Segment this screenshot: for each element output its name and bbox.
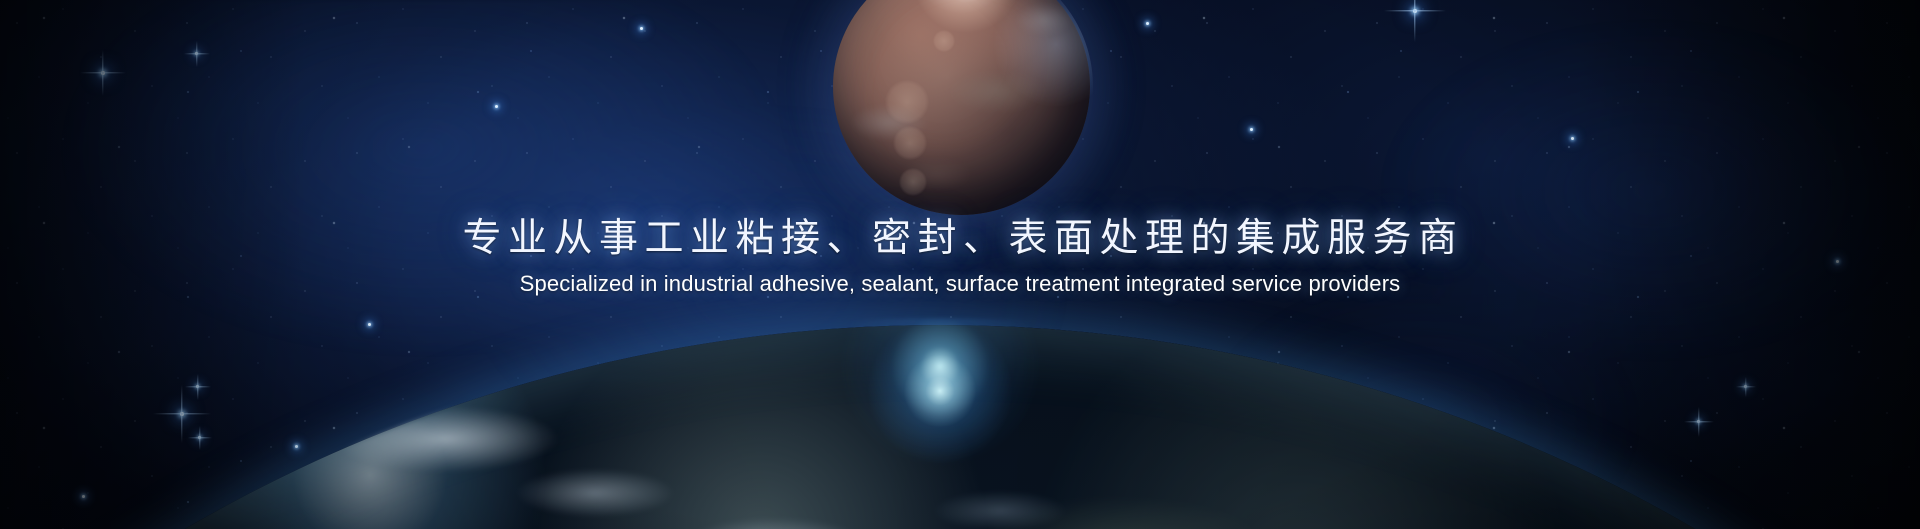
star-12 (368, 323, 371, 326)
star-18 (1146, 22, 1149, 25)
hero-subtitle-english: Specialized in industrial adhesive, seal… (0, 270, 1920, 298)
star-2 (195, 52, 198, 55)
star-4 (196, 385, 199, 388)
star-7 (1697, 420, 1700, 423)
hero-headline-chinese: 专业从事工业粘接、密封、表面处理的集成服务商 (0, 214, 1920, 264)
star-3 (180, 412, 184, 416)
earth-atmosphere-rim (0, 318, 1920, 529)
lens-bokeh-1 (885, 80, 929, 124)
lens-bokeh-4 (933, 30, 955, 52)
star-14 (82, 495, 85, 498)
star-6 (1413, 9, 1417, 13)
star-10 (495, 105, 498, 108)
star-15 (1250, 128, 1253, 131)
star-1 (101, 71, 105, 75)
lens-bokeh-2 (893, 126, 927, 160)
star-16 (1571, 137, 1574, 140)
earth-horizon (0, 325, 1920, 529)
star-9 (1744, 385, 1747, 388)
lens-bokeh-3 (899, 168, 927, 196)
star-5 (198, 436, 201, 439)
hero-copy-block: 专业从事工业粘接、密封、表面处理的集成服务商 Specialized in in… (0, 214, 1920, 298)
hero-banner: 专业从事工业粘接、密封、表面处理的集成服务商 Specialized in in… (0, 0, 1920, 529)
star-11 (295, 445, 298, 448)
star-17 (640, 27, 643, 30)
